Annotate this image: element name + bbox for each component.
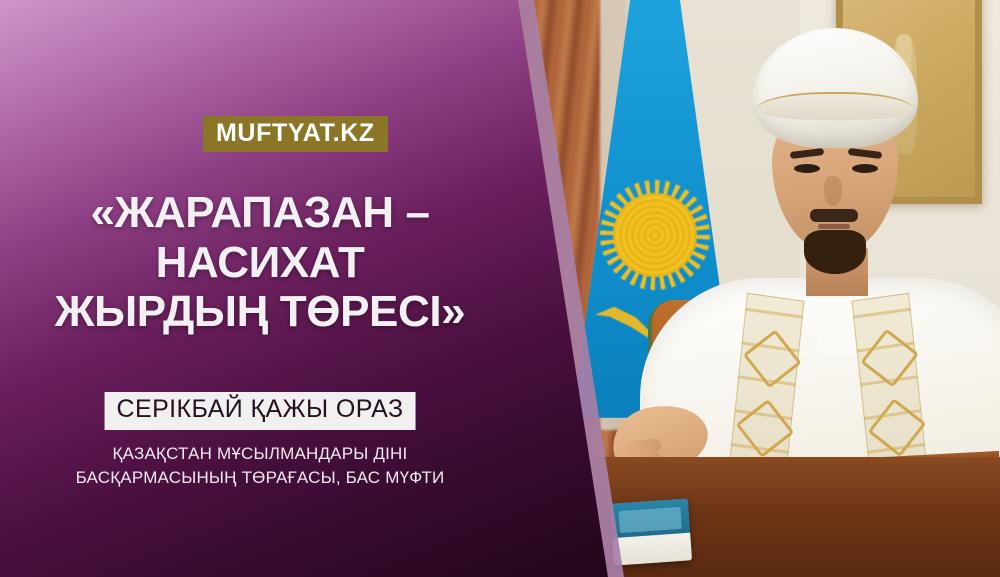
speaker-role-line-1: ҚАЗАҚСТАН МҰСЫЛМАНДАРЫ ДІНІ xyxy=(113,444,408,463)
speaker-role: ҚАЗАҚСТАН МҰСЫЛМАНДАРЫ ДІНІ БАСҚАРМАСЫНЫ… xyxy=(0,442,520,490)
headline-line-3: ЖЫРДЫҢ ТӨРЕСІ» xyxy=(55,287,466,336)
white-turban xyxy=(752,28,918,148)
sash-motif xyxy=(743,329,802,388)
promo-banner: MUFTYAT.KZ «ЖАРАПАЗАН – НАСИХАТ ЖЫРДЫҢ Т… xyxy=(0,0,1000,577)
site-logo-badge[interactable]: MUFTYAT.KZ xyxy=(203,116,388,152)
sash-motif xyxy=(860,328,919,387)
book-cover-band xyxy=(618,507,681,533)
mouth xyxy=(818,224,850,229)
speaker-name-bar: СЕРІКБАЙ ҚАЖЫ ОРАЗ xyxy=(105,392,416,430)
headline-line-2: НАСИХАТ xyxy=(156,238,365,287)
turban-band xyxy=(756,92,914,120)
headline: «ЖАРАПАЗАН – НАСИХАТ ЖЫРДЫҢ ТӨРЕСІ» xyxy=(0,188,520,337)
sash-motif xyxy=(868,398,927,457)
headline-line-1: «ЖАРАПАЗАН – xyxy=(90,188,429,237)
sash-motif xyxy=(736,399,795,458)
speaker-role-line-2: БАСҚАРМАСЫНЫҢ ТӨРАҒАСЫ, БАС МҮФТИ xyxy=(76,468,445,487)
eye-right xyxy=(852,164,878,173)
text-content: MUFTYAT.KZ «ЖАРАПАЗАН – НАСИХАТ ЖЫРДЫҢ Т… xyxy=(0,0,520,577)
book-on-desk xyxy=(610,498,692,565)
moustache xyxy=(810,209,858,222)
eye-left xyxy=(794,164,820,173)
beard xyxy=(804,230,866,274)
nose xyxy=(824,176,842,206)
